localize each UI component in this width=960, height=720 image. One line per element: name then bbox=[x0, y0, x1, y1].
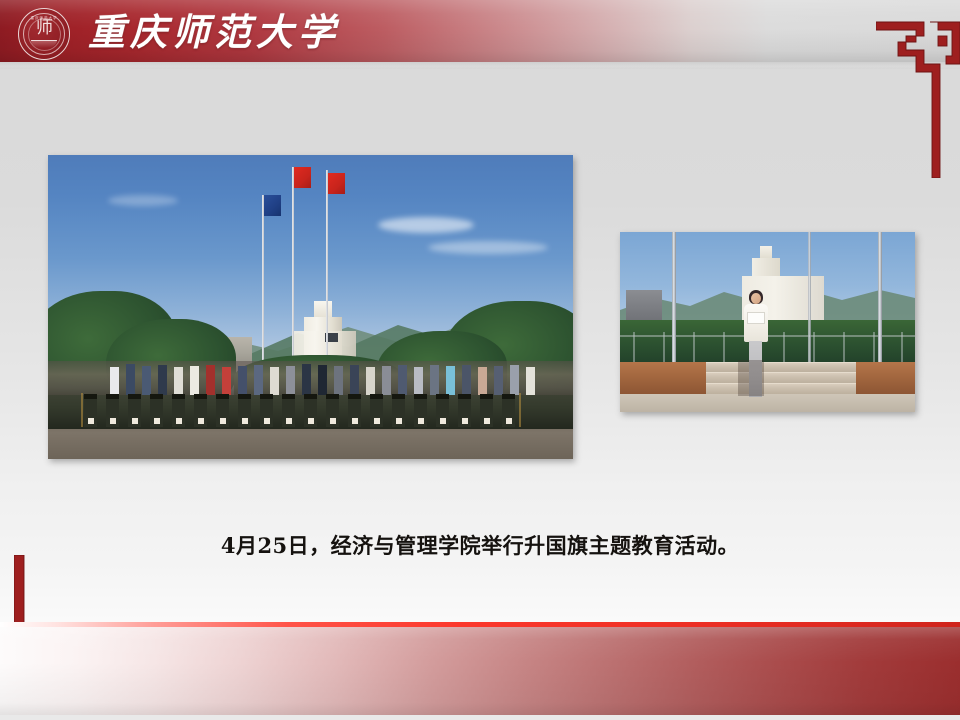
photo-tower-top bbox=[314, 301, 332, 317]
photo-flagpole bbox=[808, 232, 811, 364]
photo-flagpole bbox=[878, 232, 882, 364]
student-speech-photo bbox=[620, 232, 915, 412]
university-name-title: 重庆师范大学 bbox=[88, 6, 340, 58]
photo-tower-top bbox=[760, 246, 772, 258]
photo-ground bbox=[620, 394, 915, 412]
photo-flagpole-right bbox=[326, 170, 328, 372]
photo-stone-plinth-left bbox=[620, 362, 706, 394]
photo-flag-red bbox=[328, 173, 345, 194]
photo-speech-paper bbox=[747, 312, 765, 324]
photo-stone-plinth-right bbox=[856, 362, 915, 394]
photo-speaker-shadow bbox=[738, 360, 764, 396]
photo-flagpole-center bbox=[292, 167, 294, 372]
seal-center-glyph: 师 bbox=[19, 20, 69, 37]
university-seal-icon: 重庆师范大学 师 bbox=[18, 8, 70, 60]
photo-flag-red bbox=[294, 167, 311, 188]
chinese-meander-corner-icon bbox=[876, 12, 960, 178]
photo-honour-guard-figures bbox=[48, 391, 573, 433]
photo-side-building bbox=[626, 290, 662, 322]
corner-ornament-top-right bbox=[876, 12, 960, 183]
slide-bottom-edge bbox=[0, 715, 960, 720]
footer-banner bbox=[0, 627, 960, 715]
photo-flagpole bbox=[672, 232, 676, 364]
photo-speaker-head bbox=[751, 293, 761, 304]
flag-raising-group-photo bbox=[48, 155, 573, 459]
header-divider bbox=[0, 62, 960, 69]
photo-flag-blue bbox=[264, 195, 281, 216]
slide-caption: 4月25日，经济与管理学院举行升国旗主题教育活动。 bbox=[0, 531, 960, 561]
presentation-slide: 重庆师范大学 师 重庆师范大学 bbox=[0, 0, 960, 720]
photo-flagpole-left bbox=[262, 195, 264, 371]
